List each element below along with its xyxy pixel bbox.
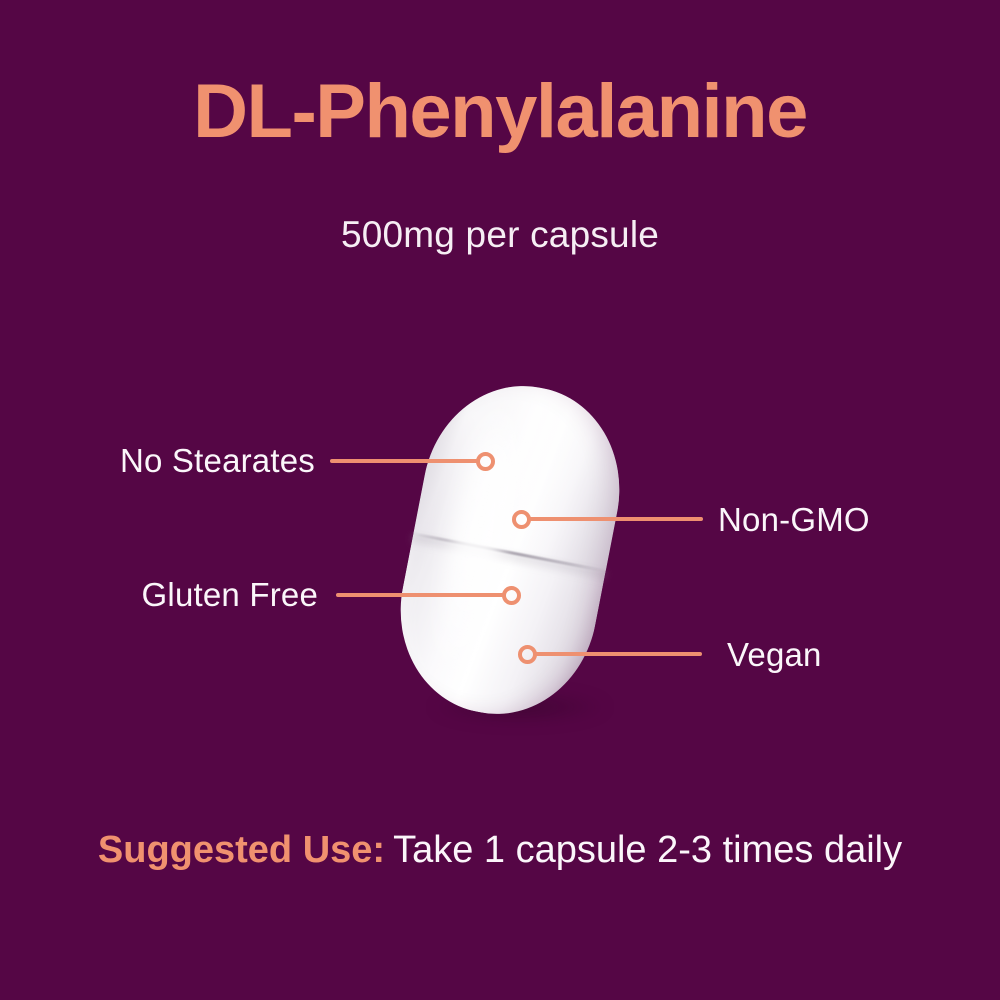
callout-marker-gluten-free: [502, 586, 521, 605]
callout-label-vegan: Vegan: [727, 638, 977, 671]
product-infographic: DL-Phenylalanine 500mg per capsule No St…: [0, 0, 1000, 1000]
suggested-use: Suggested Use:Take 1 capsule 2-3 times d…: [60, 825, 940, 876]
callout-leader-line-non-gmo: [528, 517, 703, 521]
callout-label-no-stearates: No Stearates: [0, 444, 315, 477]
callout-leader-line-gluten-free: [336, 593, 504, 597]
callout-leader-line-vegan: [534, 652, 702, 656]
callout-label-non-gmo: Non-GMO: [718, 503, 998, 536]
suggested-use-text: Take 1 capsule 2-3 times daily: [393, 829, 902, 871]
callout-label-gluten-free: Gluten Free: [0, 578, 318, 611]
suggested-use-label: Suggested Use:: [98, 829, 385, 871]
callout-marker-no-stearates: [476, 452, 495, 471]
callout-leader-line-no-stearates: [330, 459, 478, 463]
